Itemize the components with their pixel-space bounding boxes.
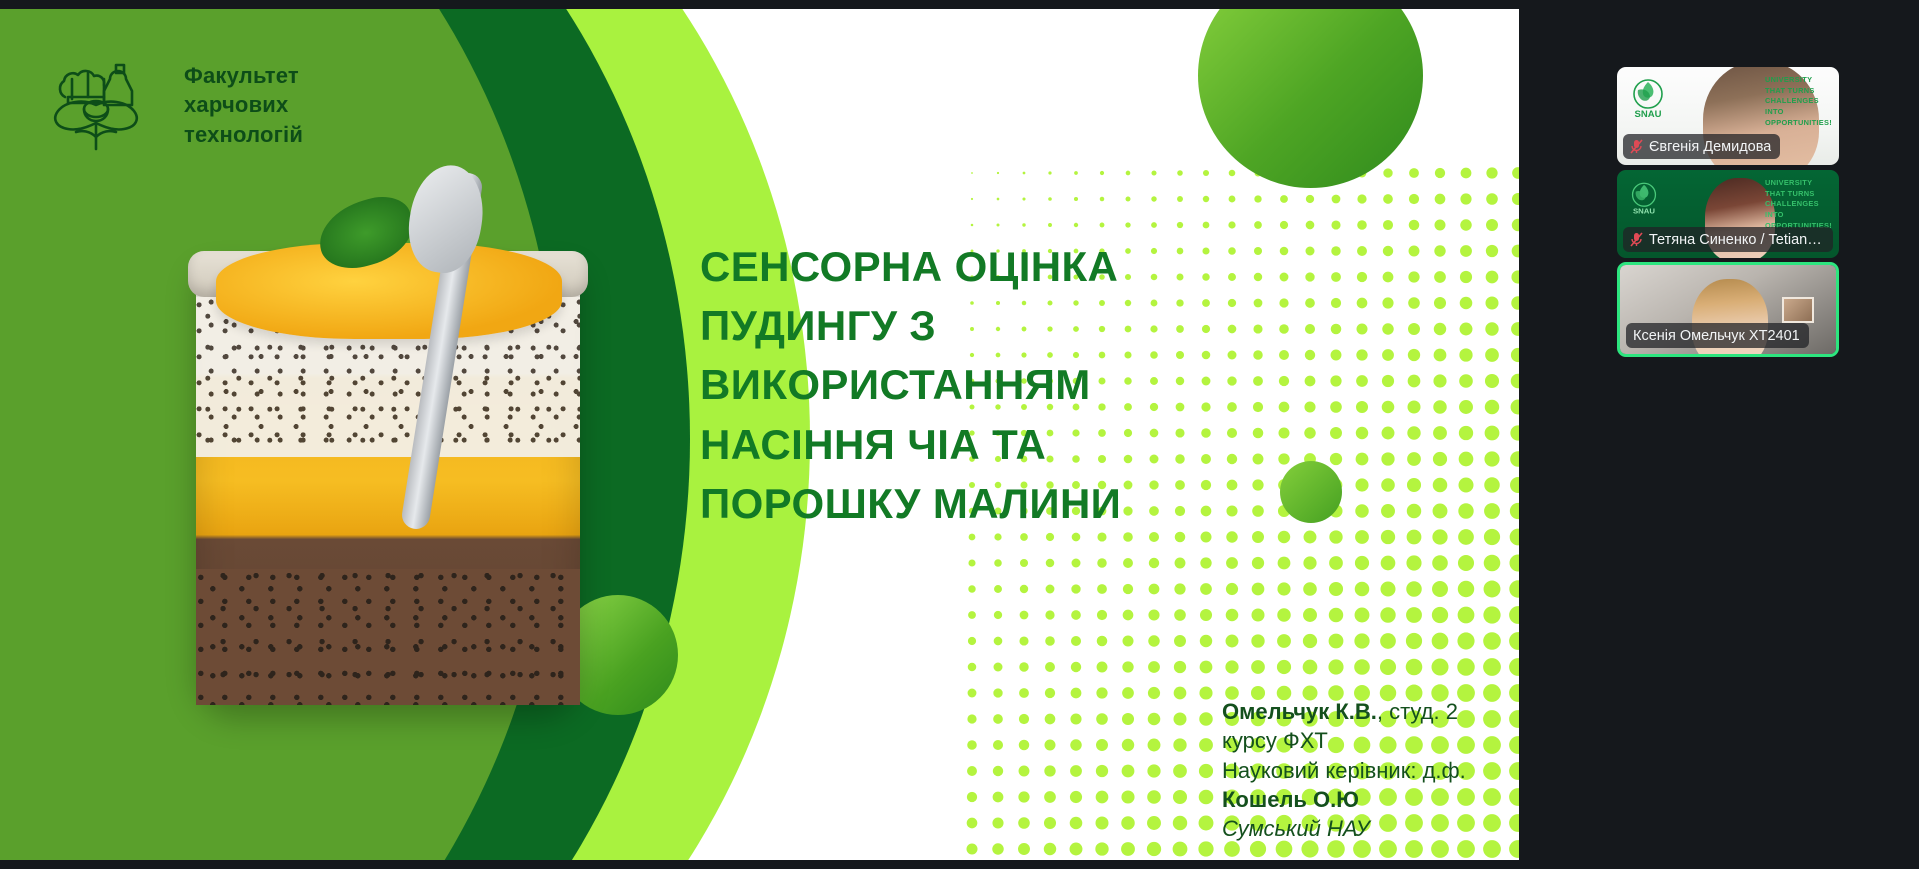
participant-name: Тетяна Синенко / Tetiana… xyxy=(1649,232,1824,248)
participant-name: Ксенія Омельчук ХТ2401 xyxy=(1633,328,1800,344)
mic-muted-icon xyxy=(1630,232,1643,247)
credit-author-role-2: курсу ФХТ xyxy=(1222,726,1492,755)
snau-logo-icon: SNAU xyxy=(1626,76,1670,120)
mic-muted-icon xyxy=(1630,139,1643,154)
chia-pudding-jar-photo xyxy=(178,179,598,719)
credit-supervisor-label: Науковий керівник: д.ф. xyxy=(1222,756,1492,785)
meeting-window: Факультет харчових технологій СЕНСОРНА О… xyxy=(0,0,1919,869)
participant-tile-active-speaker[interactable]: Ксенія Омельчук ХТ2401 xyxy=(1617,262,1839,357)
presentation-slide[interactable]: Факультет харчових технологій СЕНСОРНА О… xyxy=(0,9,1519,860)
faculty-food-technologies-logo-icon xyxy=(48,57,166,153)
credit-author-line: Омельчук К.В., студ. 2 xyxy=(1222,697,1492,726)
participant-namebar: Євгенія Демидова xyxy=(1623,134,1780,159)
participant-namebar: Тетяна Синенко / Tetiana… xyxy=(1623,227,1833,252)
credit-institution: Сумський НАУ xyxy=(1222,814,1492,843)
shared-screen-stage[interactable]: Факультет харчових технологій СЕНСОРНА О… xyxy=(0,0,1519,869)
credit-author-role: , студ. 2 xyxy=(1377,699,1458,724)
snau-logo-icon: SNAU xyxy=(1626,179,1662,217)
faculty-logo-wordmark: Факультет харчових технологій xyxy=(184,61,303,148)
decor-circle-small xyxy=(1280,461,1342,523)
svg-text:SNAU: SNAU xyxy=(1633,207,1655,216)
participant-tile[interactable]: SNAU UNIVERSITY THAT TURNS CHALLENGES IN… xyxy=(1617,170,1839,258)
slide-title: СЕНСОРНА ОЦІНКА ПУДИНГУ З ВИКОРИСТАННЯМ … xyxy=(700,237,1260,533)
participant-tile[interactable]: SNAU UNIVERSITY THAT TURNS CHALLENGES IN… xyxy=(1617,67,1839,165)
participant-filmstrip[interactable]: SNAU UNIVERSITY THAT TURNS CHALLENGES IN… xyxy=(1519,0,1919,869)
credit-author-name: Омельчук К.В. xyxy=(1222,699,1377,724)
credit-supervisor-name: Кошель О.Ю xyxy=(1222,787,1359,812)
participant-namebar: Ксенія Омельчук ХТ2401 xyxy=(1626,323,1809,348)
participant-name: Євгенія Демидова xyxy=(1649,139,1771,155)
faculty-logo: Факультет харчових технологій xyxy=(48,57,303,153)
svg-text:SNAU: SNAU xyxy=(1635,109,1662,120)
snau-slogan: UNIVERSITY THAT TURNS CHALLENGES INTO OP… xyxy=(1765,178,1832,232)
slide-credits: Омельчук К.В., студ. 2 курсу ФХТ Наукови… xyxy=(1222,697,1492,843)
snau-slogan: UNIVERSITY THAT TURNS CHALLENGES INTO OP… xyxy=(1765,75,1832,129)
